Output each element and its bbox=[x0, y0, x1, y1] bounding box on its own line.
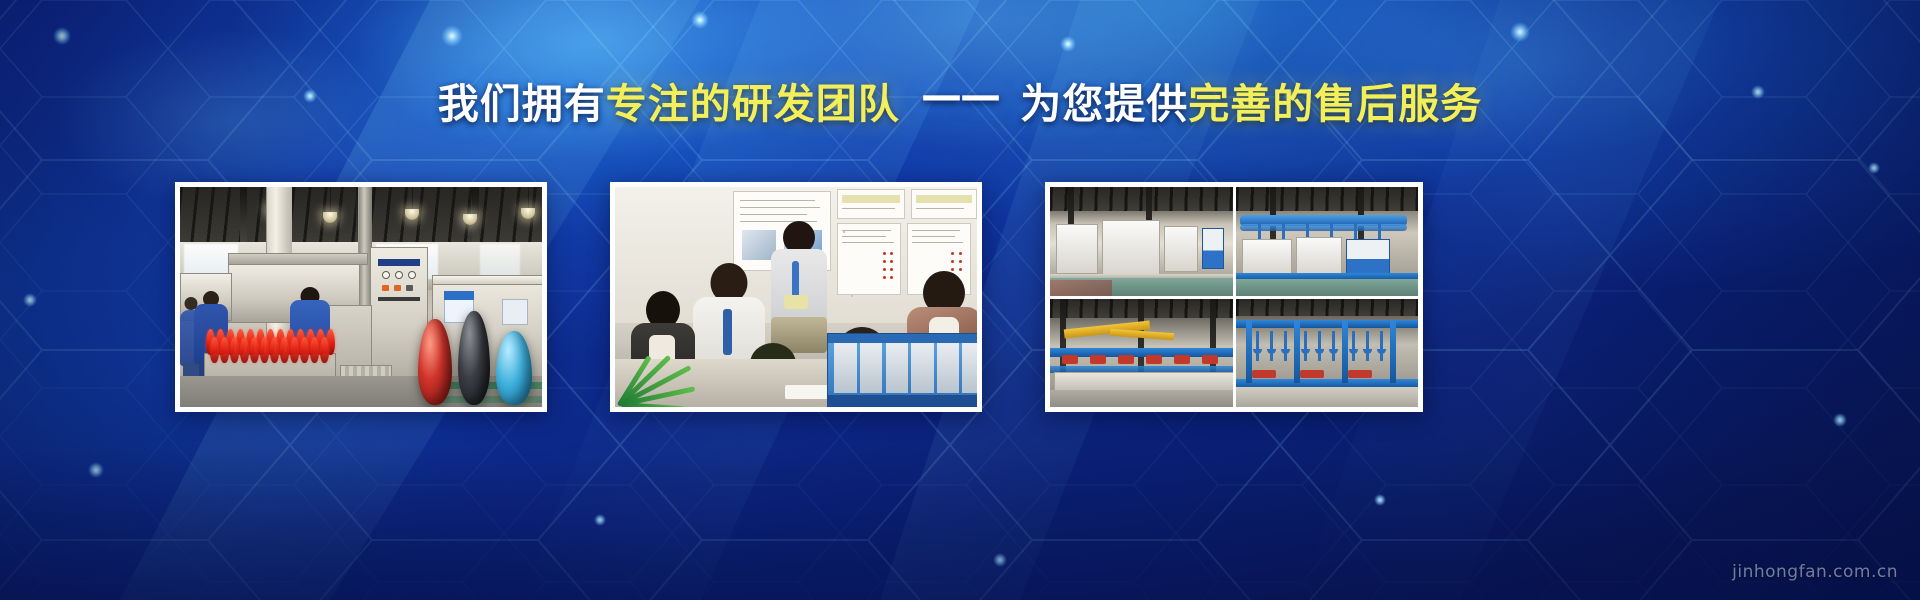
headline-dash: —— bbox=[915, 73, 1005, 119]
collage-tile-hanging-line bbox=[1236, 299, 1419, 408]
photo-gallery bbox=[0, 182, 1920, 412]
photo-3-image bbox=[1050, 187, 1418, 407]
collage-tile-oven bbox=[1050, 187, 1233, 296]
photo-3-frame bbox=[1050, 187, 1418, 407]
photo-card-production-line[interactable] bbox=[175, 182, 547, 412]
plant-decoration bbox=[621, 347, 711, 407]
person-standing bbox=[767, 221, 831, 341]
bottom-shade bbox=[0, 450, 1920, 600]
machine-overlay-image bbox=[827, 333, 977, 407]
headline-part-1: 我们拥有 bbox=[438, 80, 606, 128]
promo-banner: 我们拥有专注的研发团队 —— 为您提供完善的售后服务 bbox=[0, 0, 1920, 600]
headline-highlight-1: 专注的研发团队 bbox=[606, 80, 900, 128]
photo-1-frame bbox=[180, 187, 542, 407]
wall-spec-sheet bbox=[837, 223, 901, 295]
photo-card-equipment-collage[interactable] bbox=[1045, 182, 1423, 412]
photo-card-team-meeting[interactable] bbox=[610, 182, 982, 412]
banner-headline: 我们拥有专注的研发团队 —— 为您提供完善的售后服务 bbox=[0, 82, 1920, 128]
headline-part-2: 为您提供 bbox=[1020, 80, 1188, 128]
collage-tile-conveyor bbox=[1050, 299, 1233, 408]
photo-2-frame bbox=[615, 187, 977, 407]
wall-certificate bbox=[837, 189, 905, 219]
collage-tile-pipeline bbox=[1236, 187, 1419, 296]
photo-2-image bbox=[615, 187, 977, 407]
photo-1-image bbox=[180, 187, 542, 407]
wall-certificate bbox=[911, 189, 977, 219]
site-watermark: jinhongfan.com.cn bbox=[1732, 562, 1898, 582]
headline-highlight-2: 完善的售后服务 bbox=[1188, 80, 1482, 128]
